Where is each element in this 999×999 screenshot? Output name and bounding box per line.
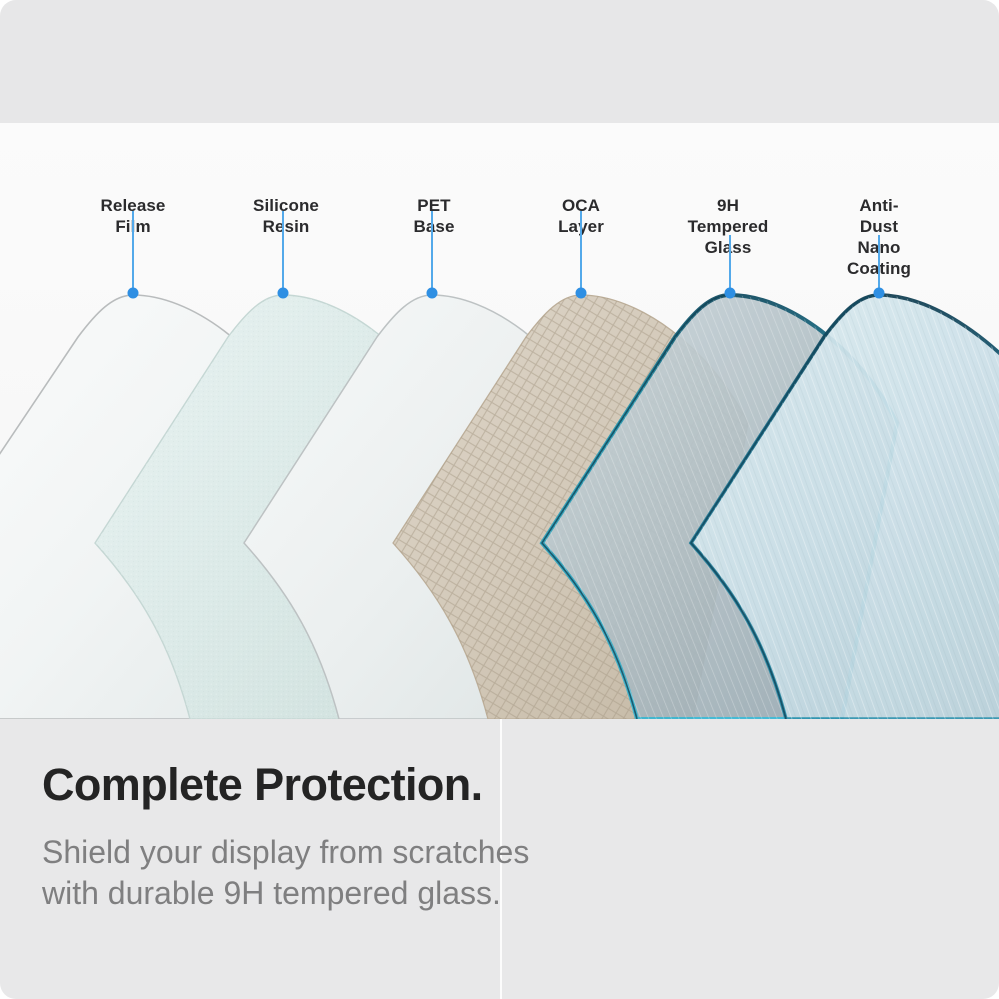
product-feature-card: Release Film Silicone Resin PET Base OCA… — [0, 0, 999, 999]
subcopy: Shield your display from scratches with … — [42, 832, 529, 914]
headline: Complete Protection. — [42, 759, 483, 811]
top-band — [0, 0, 999, 123]
layer-diagram-stage: Release Film Silicone Resin PET Base OCA… — [0, 123, 999, 719]
layer-stack-illustration — [0, 123, 999, 719]
copy-panel: Complete Protection. Shield your display… — [0, 719, 999, 999]
